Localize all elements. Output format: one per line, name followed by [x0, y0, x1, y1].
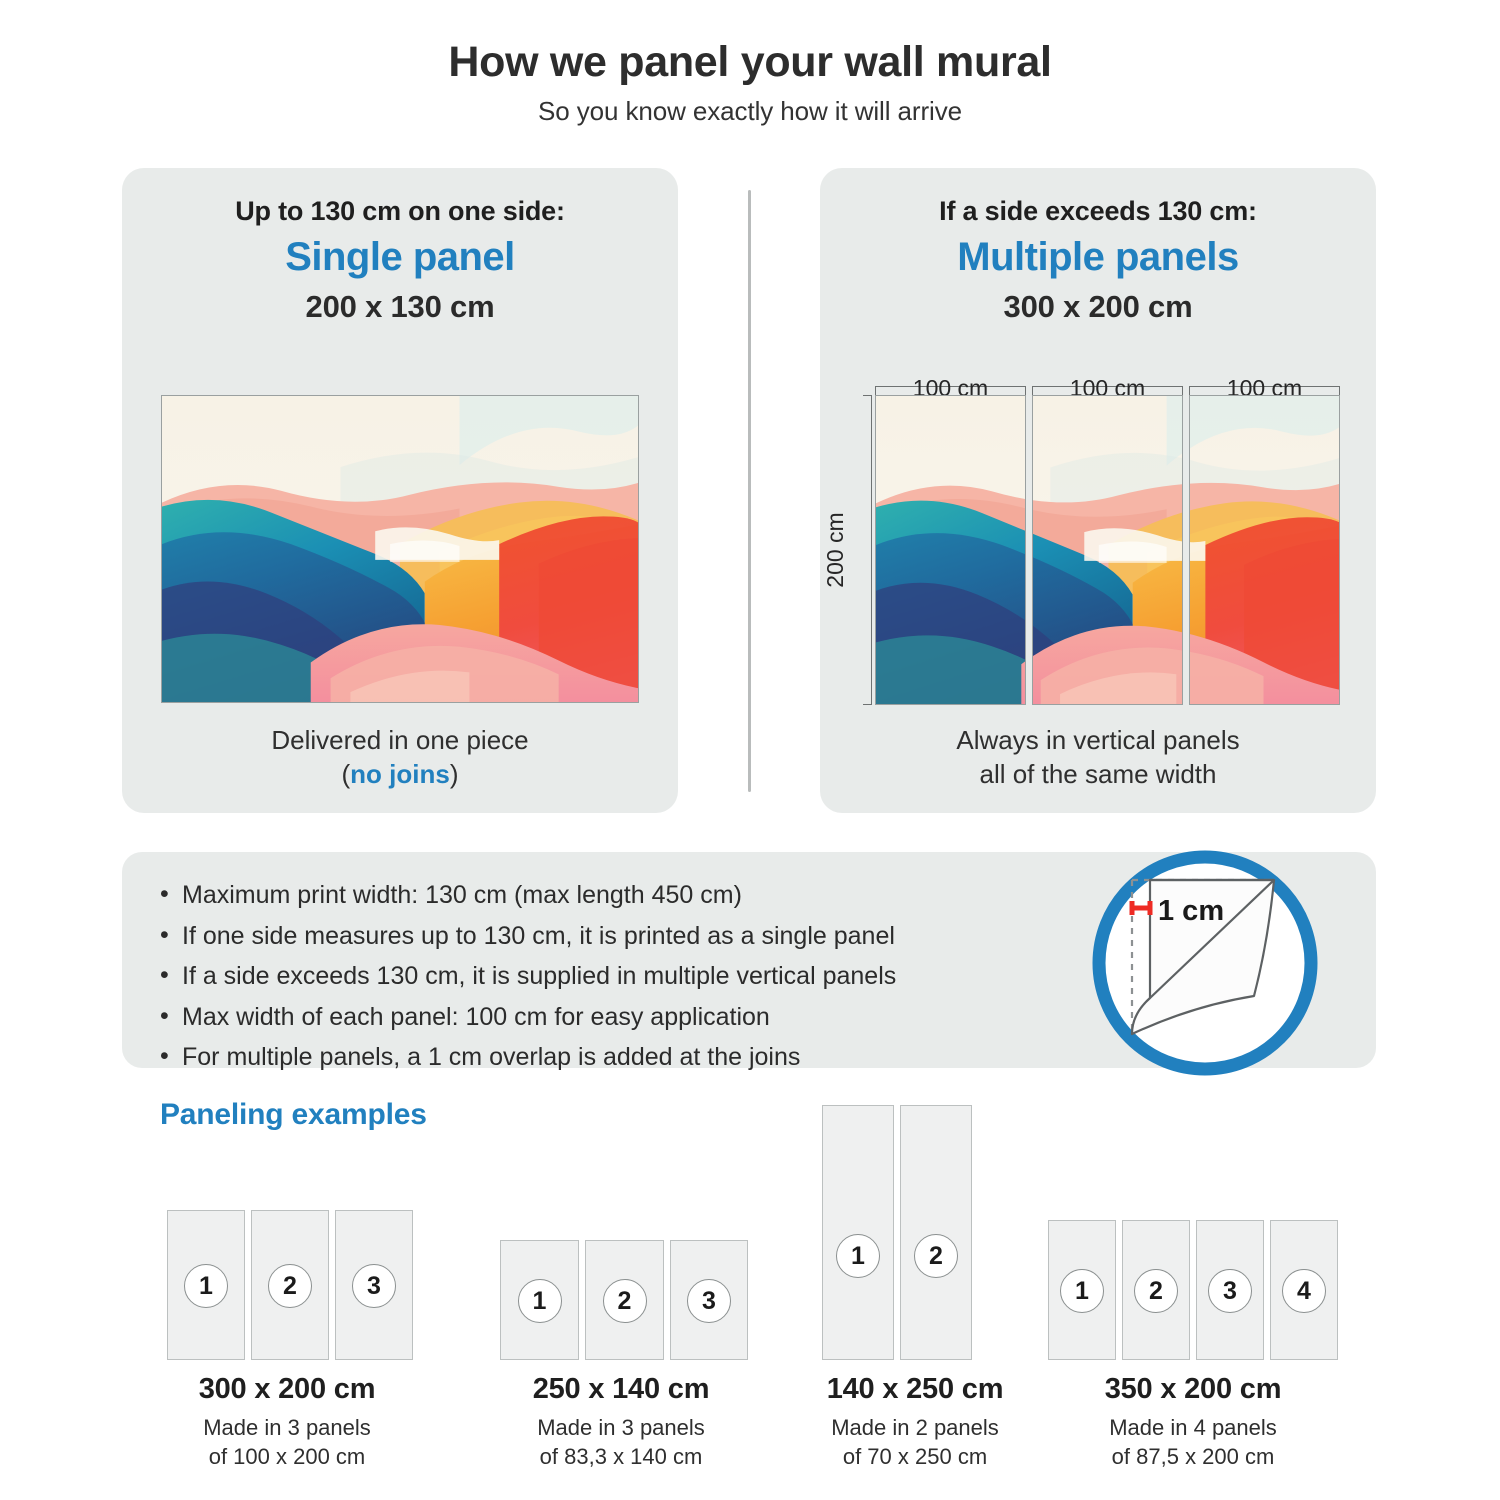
example-4-panel-1: 1: [1048, 1220, 1116, 1360]
panel-height-dimension: 200 cm: [850, 395, 872, 705]
example-3-made-line2: of 70 x 250 cm: [770, 1442, 1060, 1471]
mural-artwork-svg-3: [1189, 396, 1340, 704]
mural-panel-3: [1189, 395, 1340, 705]
single-panel-condition: Up to 130 cm on one side:: [122, 196, 678, 227]
example-4: 1 2 3 4 350 x 200 cm Made in 4 panels of…: [1038, 1210, 1348, 1460]
example-4-panel-2: 2: [1122, 1220, 1190, 1360]
spec-bullet-4: Max width of each panel: 100 cm for easy…: [154, 997, 896, 1038]
example-2-made-line2: of 83,3 x 140 cm: [456, 1442, 786, 1471]
example-4-panel-number-1: 1: [1060, 1269, 1104, 1313]
overlap-detail-diagram: 1 cm: [1088, 846, 1322, 1080]
paneling-examples-title: Paneling examples: [160, 1098, 427, 1132]
single-panel-size: 200 x 130 cm: [122, 289, 678, 325]
example-2-panels: 1 2 3: [500, 1240, 748, 1360]
paren-close: ): [450, 759, 459, 789]
example-3-made-line1: Made in 2 panels: [770, 1413, 1060, 1442]
multiple-panels-footer-line2: all of the same width: [820, 758, 1376, 791]
example-1: 1 2 3 300 x 200 cm Made in 3 panels of 1…: [122, 1210, 452, 1460]
single-panel-footer-line1: Delivered in one piece: [122, 724, 678, 757]
example-1-panels: 1 2 3: [167, 1210, 413, 1360]
multiple-panels-footer-line1: Always in vertical panels: [820, 724, 1376, 757]
card-divider: [748, 190, 751, 792]
multiple-panels-size: 300 x 200 cm: [820, 289, 1376, 325]
example-3-caption: 140 x 250 cm Made in 2 panels of 70 x 25…: [770, 1373, 1060, 1472]
spec-bullet-1: Maximum print width: 130 cm (max length …: [154, 875, 896, 916]
panel-width-bracket-1: 100 cm: [875, 386, 1026, 395]
multiple-panels-condition: If a side exceeds 130 cm:: [820, 196, 1376, 227]
overlap-label-text: 1 cm: [1158, 895, 1224, 927]
example-1-size: 300 x 200 cm: [122, 1373, 452, 1406]
mural-artwork: [162, 396, 638, 702]
example-4-made-line1: Made in 4 panels: [1038, 1413, 1348, 1442]
example-4-panel-number-2: 2: [1134, 1269, 1178, 1313]
example-4-panel-4: 4: [1270, 1220, 1338, 1360]
example-4-panel-number-3: 3: [1208, 1269, 1252, 1313]
example-4-size: 350 x 200 cm: [1038, 1373, 1348, 1406]
example-2-panel-3: 3: [670, 1240, 748, 1360]
mural-panel-1: [875, 395, 1026, 705]
single-panel-footer: Delivered in one piece (no joins): [122, 724, 678, 791]
example-1-panel-1: 1: [167, 1210, 245, 1360]
multiple-panels-kind: Multiple panels: [820, 235, 1376, 280]
example-4-panel-3: 3: [1196, 1220, 1264, 1360]
example-1-made-line2: of 100 x 200 cm: [122, 1442, 452, 1471]
example-2-panel-number-2: 2: [603, 1279, 647, 1323]
multiple-panels-card: If a side exceeds 130 cm: Multiple panel…: [820, 168, 1376, 813]
single-panel-card-header: Up to 130 cm on one side: Single panel 2…: [122, 168, 678, 325]
paren-open: (: [341, 759, 350, 789]
single-panel-kind: Single panel: [122, 235, 678, 280]
multi-panel-mural-preview: [875, 395, 1340, 705]
example-3-panel-number-1: 1: [836, 1234, 880, 1278]
example-3-panel-1: 1: [822, 1105, 894, 1360]
example-2-caption: 250 x 140 cm Made in 3 panels of 83,3 x …: [456, 1373, 786, 1472]
panel-height-label: 200 cm: [822, 512, 849, 587]
example-4-panel-number-4: 4: [1282, 1269, 1326, 1313]
single-panel-card: Up to 130 cm on one side: Single panel 2…: [122, 168, 678, 813]
page-header: How we panel your wall mural So you know…: [0, 38, 1500, 127]
mural-artwork-svg: [162, 396, 638, 702]
example-1-panel-number-1: 1: [184, 1264, 228, 1308]
specifications-list: Maximum print width: 130 cm (max length …: [154, 875, 896, 1078]
panel-width-dimensions: 100 cm 100 cm 100 cm: [875, 368, 1340, 392]
spec-bullet-3: If a side exceeds 130 cm, it is supplied…: [154, 956, 896, 997]
mural-artwork-slice-3: [1189, 396, 1340, 704]
example-2: 1 2 3 250 x 140 cm Made in 3 panels of 8…: [456, 1210, 786, 1460]
multiple-panels-card-header: If a side exceeds 130 cm: Multiple panel…: [820, 168, 1376, 325]
comparison-cards: Up to 130 cm on one side: Single panel 2…: [0, 168, 1500, 813]
page-title: How we panel your wall mural: [0, 38, 1500, 86]
example-2-made-line1: Made in 3 panels: [456, 1413, 786, 1442]
example-3-panel-2: 2: [900, 1105, 972, 1360]
example-4-caption: 350 x 200 cm Made in 4 panels of 87,5 x …: [1038, 1373, 1348, 1472]
example-1-panel-2: 2: [251, 1210, 329, 1360]
no-joins-accent: no joins: [350, 759, 450, 789]
example-1-panel-number-3: 3: [352, 1264, 396, 1308]
example-1-panel-number-2: 2: [268, 1264, 312, 1308]
example-1-caption: 300 x 200 cm Made in 3 panels of 100 x 2…: [122, 1373, 452, 1472]
panel-height-bracket: [863, 395, 872, 705]
mural-panel-2: [1032, 395, 1183, 705]
single-panel-mural-preview: [161, 395, 639, 703]
single-panel-footer-line2: (no joins): [122, 758, 678, 791]
spec-bullet-2: If one side measures up to 130 cm, it is…: [154, 916, 896, 957]
example-3: 1 2 140 x 250 cm Made in 2 panels of 70 …: [770, 1105, 1060, 1460]
example-1-made-line1: Made in 3 panels: [122, 1413, 452, 1442]
example-2-size: 250 x 140 cm: [456, 1373, 786, 1406]
spec-bullet-5: For multiple panels, a 1 cm overlap is a…: [154, 1037, 896, 1078]
panel-width-bracket-3: 100 cm: [1189, 386, 1340, 395]
example-2-panel-number-3: 3: [687, 1279, 731, 1323]
example-1-panel-3: 3: [335, 1210, 413, 1360]
multiple-panels-footer: Always in vertical panels all of the sam…: [820, 724, 1376, 791]
example-4-panels: 1 2 3 4: [1048, 1220, 1338, 1360]
page-subtitle: So you know exactly how it will arrive: [0, 96, 1500, 127]
overlap-diagram-svg: 1 cm: [1088, 846, 1322, 1080]
panel-width-bracket-2: 100 cm: [1032, 386, 1183, 395]
mural-artwork-slice-2: [1032, 396, 1183, 704]
example-3-size: 140 x 250 cm: [770, 1373, 1060, 1406]
example-2-panel-2: 2: [585, 1240, 664, 1360]
example-3-panel-number-2: 2: [914, 1234, 958, 1278]
mural-artwork-slice-1: [876, 396, 1026, 704]
mural-artwork-svg-2: [1032, 396, 1183, 704]
example-2-panel-number-1: 1: [518, 1279, 562, 1323]
example-2-panel-1: 1: [500, 1240, 579, 1360]
example-4-made-line2: of 87,5 x 200 cm: [1038, 1442, 1348, 1471]
mural-artwork-svg-1: [876, 396, 1026, 704]
infographic-page: How we panel your wall mural So you know…: [0, 0, 1500, 1500]
example-3-panels: 1 2: [822, 1105, 972, 1360]
